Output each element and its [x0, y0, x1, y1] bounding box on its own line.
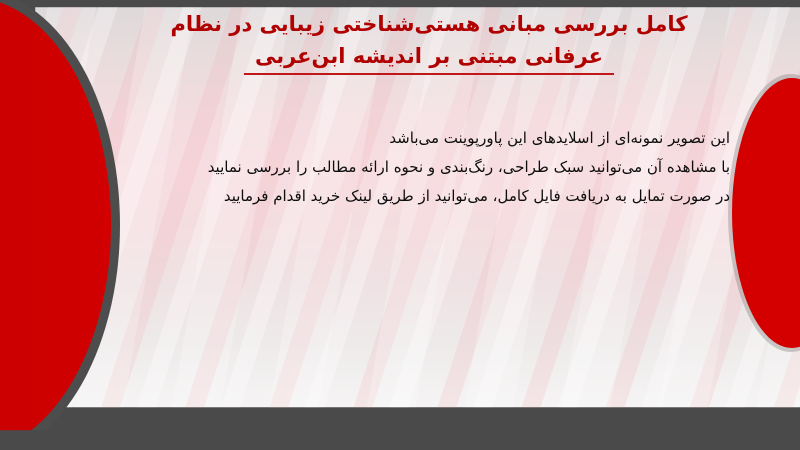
body-text-line-2: با مشاهده آن می‌توانید سبک طراحی، رنگ‌بن…: [100, 153, 730, 182]
slide-body-block: این تصویر نمونه‌ای از اسلایدهای این پاور…: [100, 124, 730, 211]
body-text-line-3: در صورت تمایل به دریافت فایل کامل، می‌تو…: [100, 182, 730, 211]
title-underline-rule: [244, 73, 614, 75]
slide-title-block: کامل بررسی مبانی هستی‌شناختی زیبایی در ن…: [120, 8, 738, 75]
body-text-line-1: این تصویر نمونه‌ای از اسلایدهای این پاور…: [100, 124, 730, 153]
slide-content: کامل بررسی مبانی هستی‌شناختی زیبایی در ن…: [0, 0, 800, 450]
slide-title-line-2: عرفانی مبتنی بر اندیشه ابن‌عربی: [120, 40, 738, 72]
slide-title-line-1: کامل بررسی مبانی هستی‌شناختی زیبایی در ن…: [120, 8, 738, 40]
presentation-slide: کامل بررسی مبانی هستی‌شناختی زیبایی در ن…: [0, 0, 800, 450]
